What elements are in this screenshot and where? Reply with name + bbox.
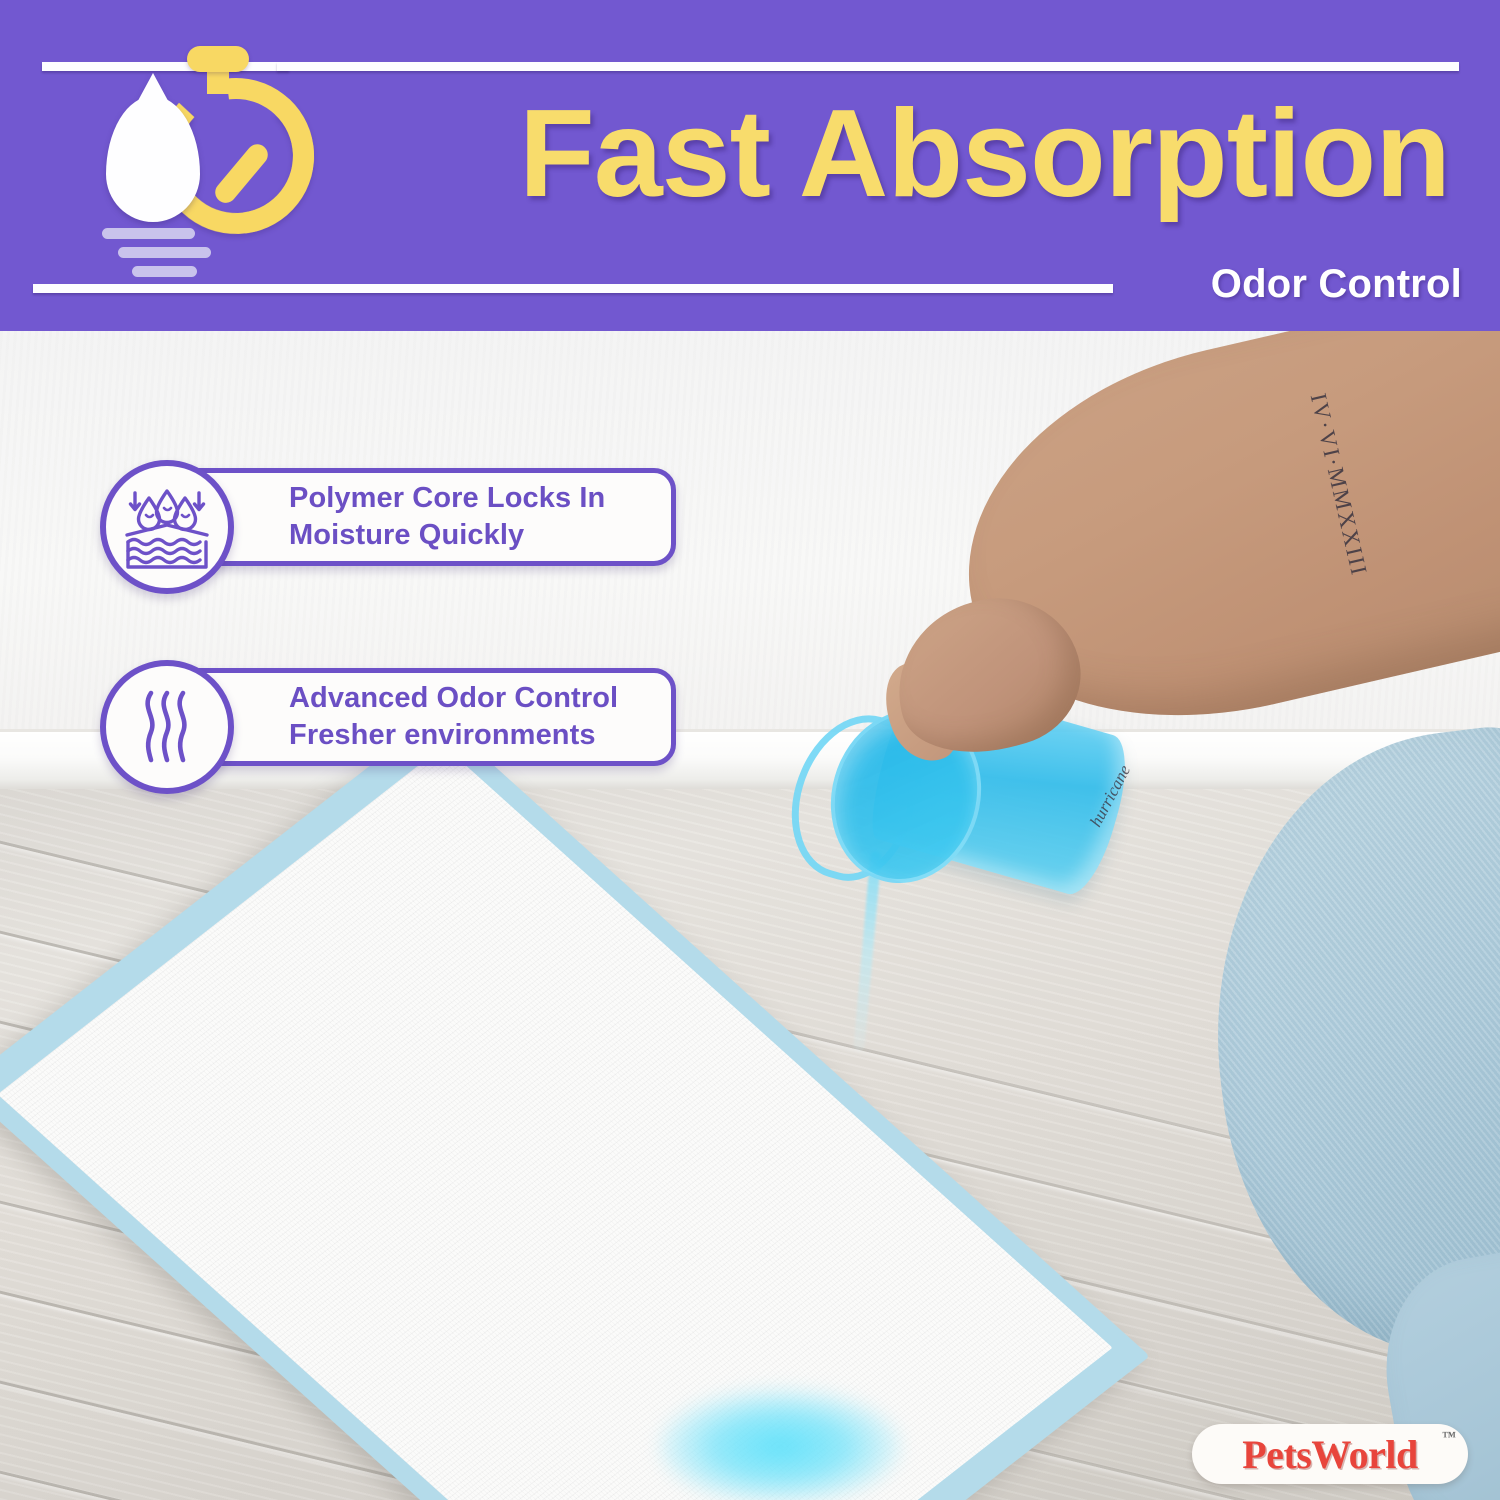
feature-badge-line2: Moisture Quickly [289,517,605,554]
feature-badge-text: Polymer Core Locks In Moisture Quickly [289,480,605,554]
feature-badge-odor-control[interactable]: Advanced Odor Control Fresher environmen… [100,660,676,774]
product-feature-image: Fast Absorption Odor Control [0,0,1500,1500]
feature-badge-line2: Fresher environments [289,717,618,754]
feature-badge-pill: Advanced Odor Control Fresher environmen… [162,668,676,766]
absorption-layers-icon [100,460,234,594]
absorbed-liquid-spot [660,1389,900,1500]
speed-line-icon [118,247,211,258]
feature-badge-line1: Advanced Odor Control [289,680,618,717]
brand-name: PetsWorld [1242,1431,1417,1478]
feature-badge-pill: Polymer Core Locks In Moisture Quickly [162,468,676,566]
feature-badge-text: Advanced Odor Control Fresher environmen… [289,680,618,754]
speed-line-icon [132,266,197,277]
stopwatch-crown-icon [187,46,249,72]
header-divider-top-right [277,62,1459,71]
header-banner: Fast Absorption Odor Control [0,0,1500,331]
page-subtitle: Odor Control [1211,262,1462,307]
training-pad [0,831,1385,1500]
feature-badge-polymer-core[interactable]: Polymer Core Locks In Moisture Quickly [100,460,676,574]
speed-line-icon [102,228,195,239]
page-title: Fast Absorption [380,92,1450,216]
odor-waves-icon [100,660,234,794]
feature-badge-line1: Polymer Core Locks In [289,480,605,517]
droplet-stopwatch-icon [88,46,303,291]
brand-logo[interactable]: PetsWorld ™ [1192,1424,1468,1484]
trademark-symbol: ™ [1442,1430,1456,1446]
